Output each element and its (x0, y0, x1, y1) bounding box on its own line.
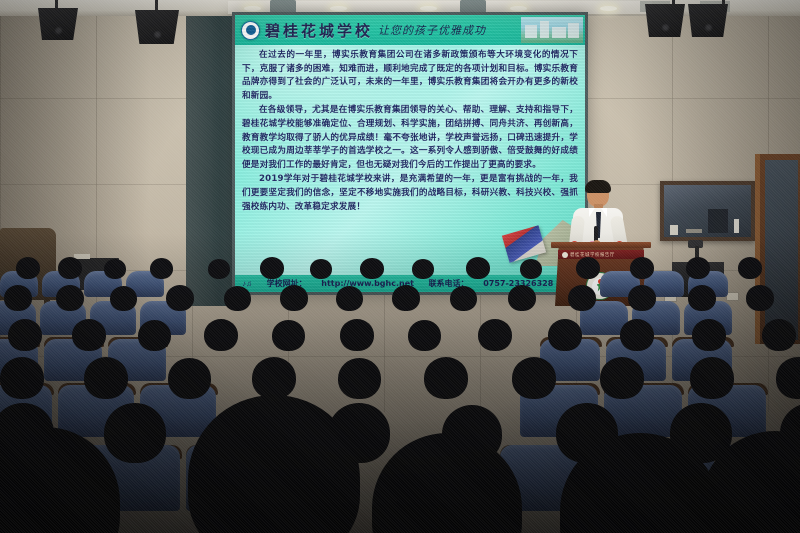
shirt-collar (601, 208, 607, 217)
school-name: 碧桂花城学校 (265, 20, 373, 41)
ceiling-downlight (244, 6, 261, 11)
control-room-object (734, 219, 739, 233)
ceiling-downlight (510, 6, 527, 11)
ceiling-downlight (330, 6, 347, 11)
ceiling-speaker (135, 10, 179, 44)
audience (0, 233, 800, 533)
slide-paragraph: 2019学年对于碧桂花城学校来讲，是充满希望的一年，更是富有挑战的一年，我们更要… (242, 173, 578, 214)
control-room-monitor (708, 209, 728, 233)
room-darkness-gradient (0, 233, 800, 533)
campus-photo (521, 17, 583, 43)
presenter-hair (585, 180, 611, 193)
school-slogan: 让您的孩子优雅成功 (378, 22, 486, 38)
ceiling-speaker (645, 4, 685, 37)
ceiling-downlight (420, 6, 437, 11)
ceiling-speaker (688, 4, 728, 37)
control-room-window (660, 181, 755, 241)
shirt-collar (589, 208, 595, 217)
ceiling-speaker (38, 8, 78, 40)
ceiling-downlight (600, 6, 617, 11)
slide-header: 碧桂花城学校 让您的孩子优雅成功 (235, 15, 585, 45)
slide-paragraph: 在过去的一年里，博实乐教育集团公司在诸多新政策颁布等大环境变化的情况下下，克服了… (242, 49, 578, 103)
slide-paragraph: 在各级领导，尤其是在博实乐教育集团领导的关心、帮助、理解、支持和指导下，碧桂花城… (242, 104, 578, 172)
school-crest-icon (241, 21, 260, 40)
auditorium-photo: 碧桂花城学校 让您的孩子优雅成功 在过去的一年里，博实乐教育集团公司在诸多新政策… (0, 0, 800, 533)
